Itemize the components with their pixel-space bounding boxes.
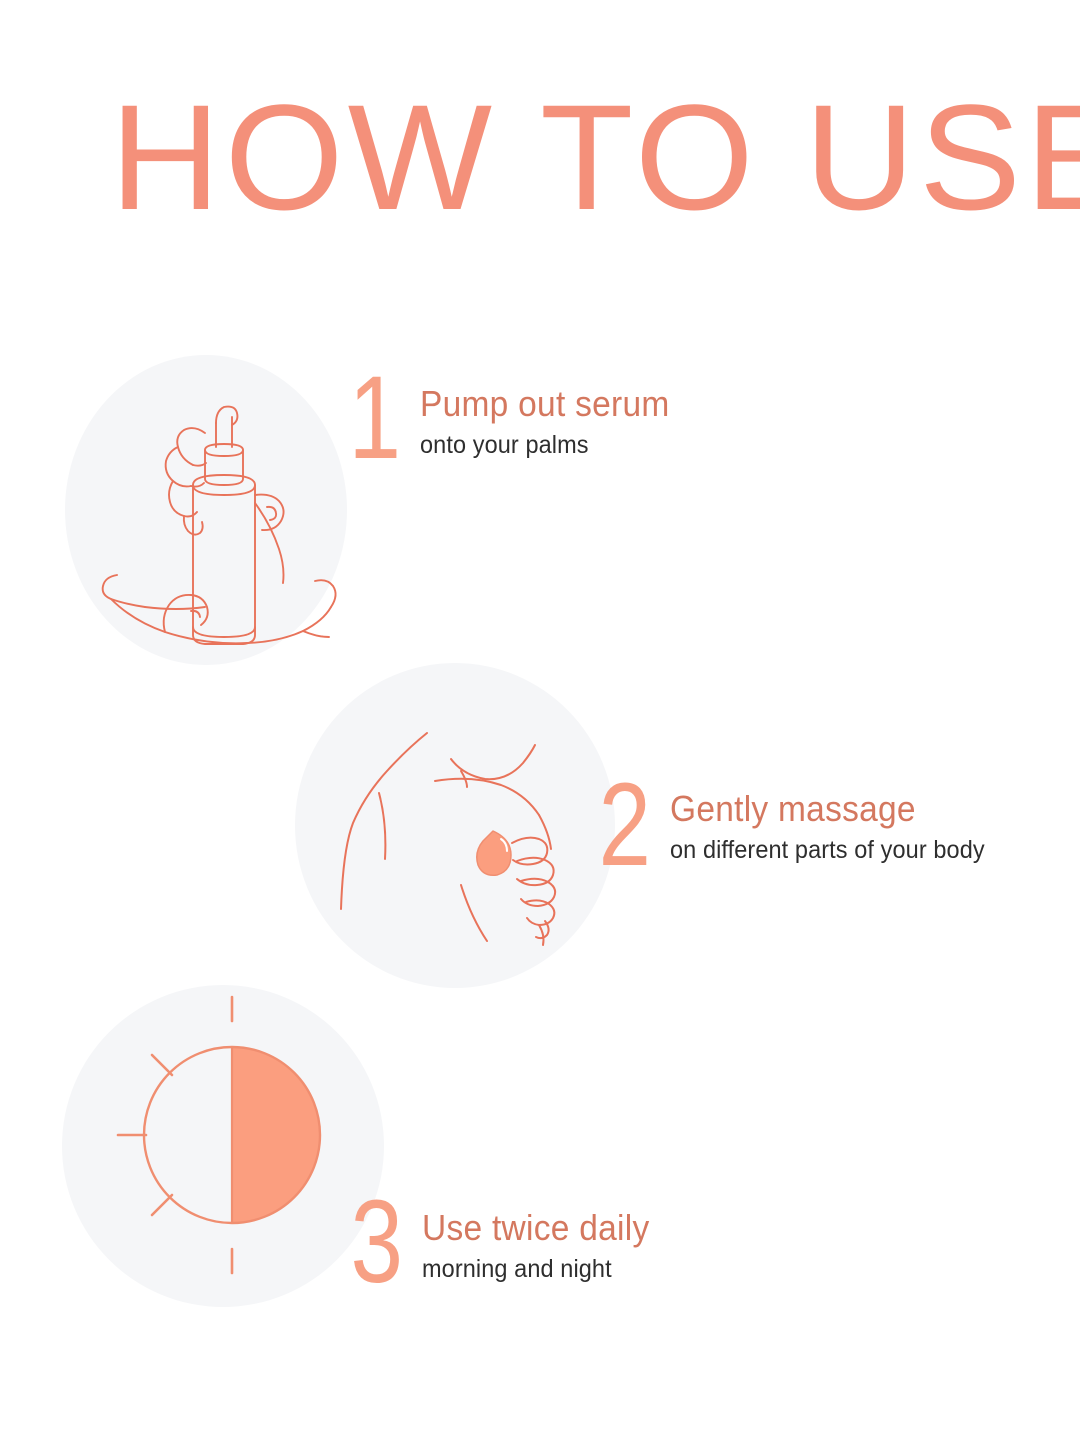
step-3-illustration-circle: [62, 985, 384, 1307]
step-1-subtitle: onto your palms: [420, 430, 672, 460]
step-2-text-block: 2 Gently massage on different parts of y…: [596, 775, 1005, 875]
step-1-heading: Pump out serum: [420, 384, 670, 424]
step-1-text-block: 1 Pump out serum onto your palms: [346, 368, 688, 468]
step-3-subtitle: morning and night: [422, 1254, 652, 1284]
step-3-copy: Use twice daily morning and night: [422, 1192, 667, 1284]
page-title: HOW TO USE: [110, 82, 1080, 232]
step-2-subtitle: on different parts of your body: [670, 835, 985, 865]
step-2-heading: Gently massage: [670, 789, 981, 829]
step-1-copy: Pump out serum onto your palms: [420, 368, 688, 460]
step-2-illustration-circle: [295, 663, 615, 988]
sun-filled-half: [232, 1047, 320, 1223]
step-3-number: 3: [348, 1192, 406, 1292]
step-1-number: 1: [346, 368, 404, 468]
step-3-text-block: 3 Use twice daily morning and night: [348, 1192, 667, 1292]
step-1-illustration-circle: [65, 355, 347, 665]
sun-moon-half-icon: [62, 985, 384, 1307]
step-2-number: 2: [596, 775, 654, 875]
infographic-page: HOW TO USE: [0, 0, 1080, 1440]
hand-pump-bottle-icon: [65, 355, 347, 665]
step-3-heading: Use twice daily: [422, 1208, 649, 1248]
shoulder-massage-droplet-icon: [295, 663, 615, 988]
step-2-copy: Gently massage on different parts of you…: [670, 775, 1005, 865]
